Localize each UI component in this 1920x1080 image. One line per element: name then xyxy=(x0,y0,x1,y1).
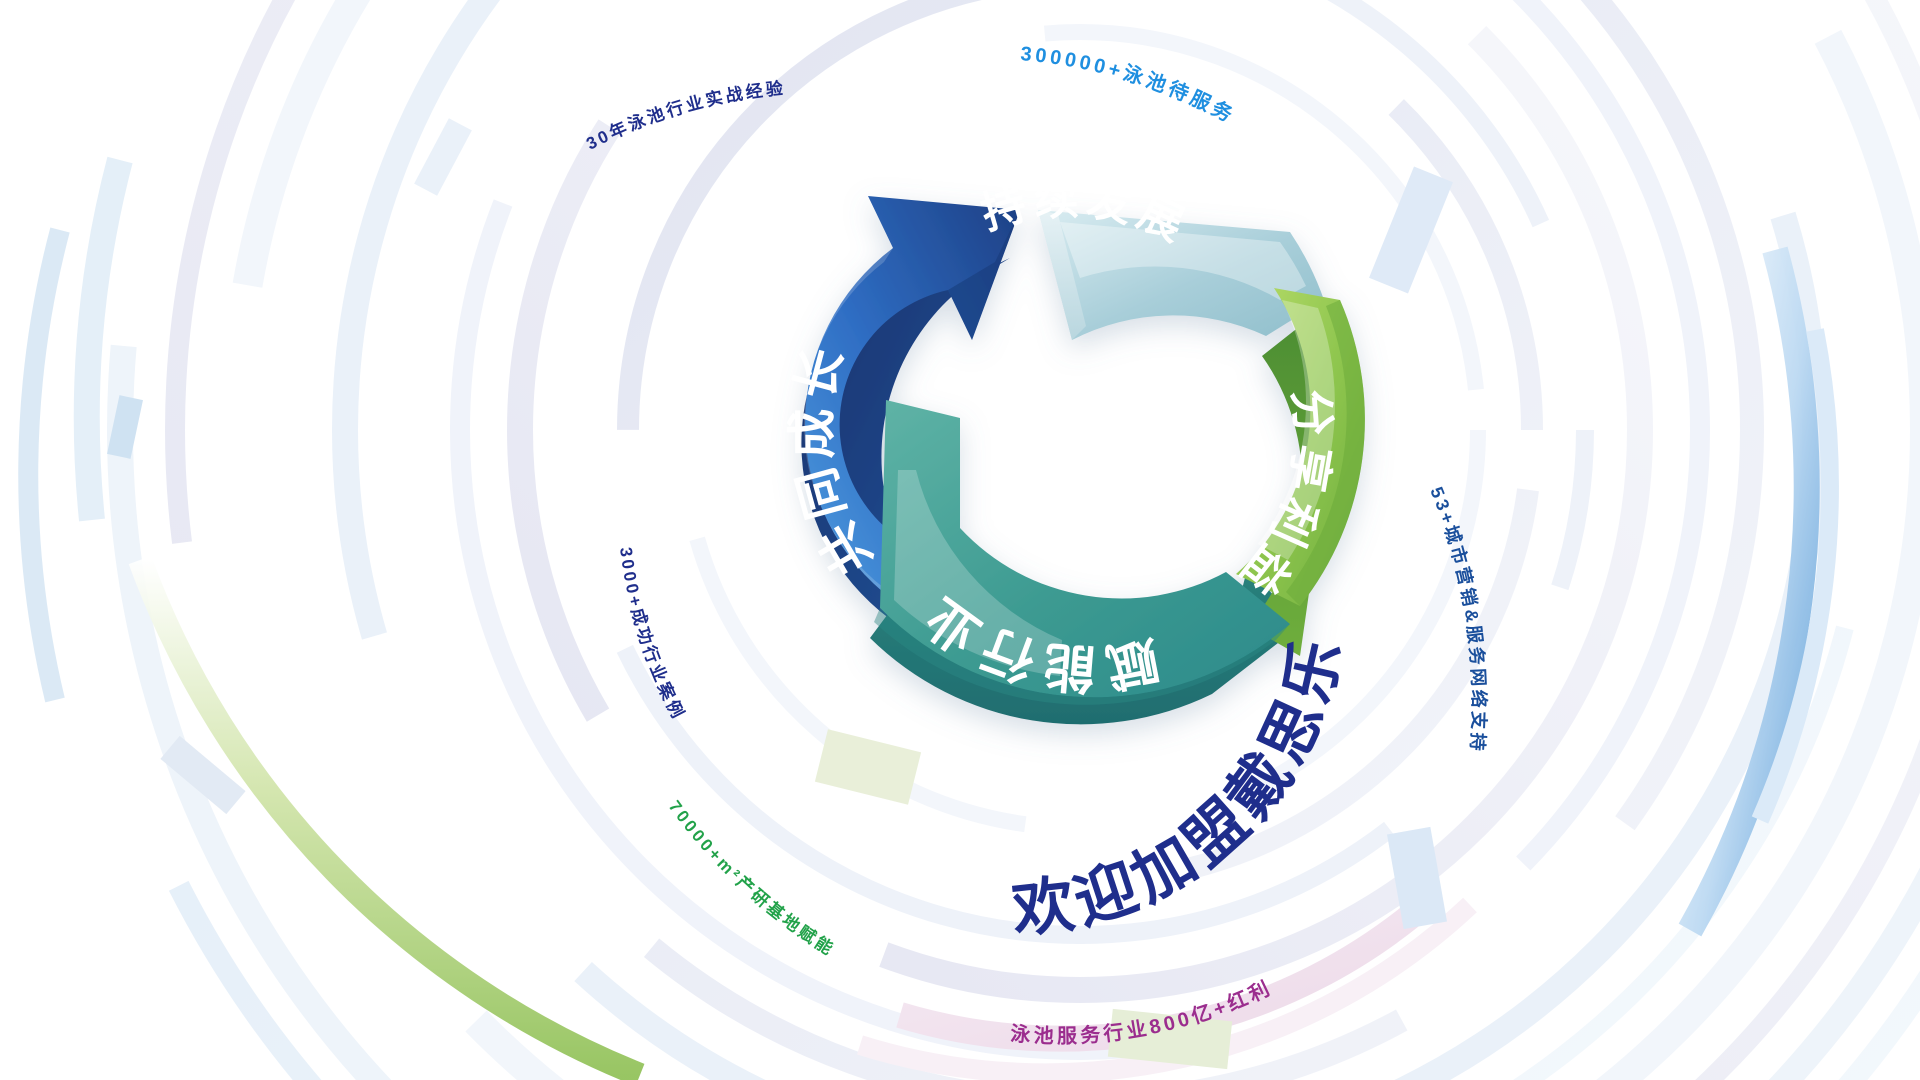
stat-rnd-base: 70000+m²产研基地赋能 xyxy=(665,797,839,960)
stat-pools: 300000+泳池待服务 xyxy=(1020,43,1240,128)
stat-experience: 30年泳池行业实战经验 xyxy=(583,78,787,154)
stat-labels-layer: 30年泳池行业实战经验 300000+泳池待服务 53+城市营销&服务网络支持 … xyxy=(0,0,1920,1080)
stat-cities: 53+城市营销&服务网络支持 xyxy=(1426,484,1490,755)
stat-market: 泳池服务行业800亿+红利 xyxy=(1010,976,1277,1048)
page-title: 欢迎加盟戴思乐 xyxy=(1008,628,1356,946)
poster-canvas: 共同成长 持续发展 分享利益 赋能行业 30年泳池行业实战经验 xyxy=(0,0,1920,1080)
stat-cases: 3000+成功行业案例 xyxy=(616,546,689,724)
